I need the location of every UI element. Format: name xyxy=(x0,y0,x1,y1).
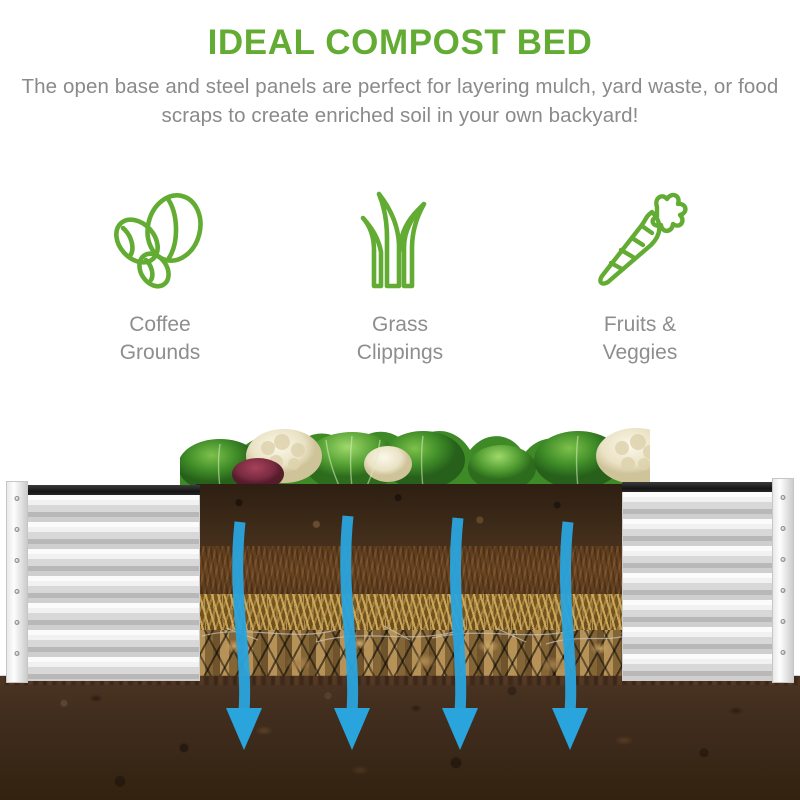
rivet xyxy=(781,557,786,562)
feature-label: Coffee Grounds xyxy=(120,311,201,367)
page-title: IDEAL COMPOST BED xyxy=(0,22,800,63)
header: IDEAL COMPOST BED The open base and stee… xyxy=(0,22,800,131)
rivet xyxy=(15,527,20,532)
feature-label: Grass Clippings xyxy=(357,311,443,367)
arrow-head xyxy=(552,708,588,750)
page-subtitle: The open base and steel panels are perfe… xyxy=(0,72,800,130)
feature-list: Coffee Grounds Grass Clippings xyxy=(55,188,745,367)
coffee-beans-icon xyxy=(108,188,212,292)
plant-row xyxy=(180,404,650,490)
water-drainage-arrow xyxy=(238,522,245,712)
feature-grass-clippings: Grass Clippings xyxy=(295,188,505,367)
feature-fruits-veggies: Fruits & Veggies xyxy=(535,188,745,367)
water-drainage-arrow xyxy=(565,522,570,712)
rivet xyxy=(781,526,786,531)
rivet xyxy=(15,496,20,501)
rivet xyxy=(781,588,786,593)
rivet xyxy=(781,619,786,624)
grass-blades-icon xyxy=(354,188,446,292)
rivet xyxy=(15,620,20,625)
arrow-head xyxy=(442,708,478,750)
product-infographic: IDEAL COMPOST BED The open base and stee… xyxy=(0,0,800,800)
rivet xyxy=(15,651,20,656)
corrugated-surface xyxy=(8,495,200,681)
rivet xyxy=(781,495,786,500)
right-steel-panel xyxy=(622,482,792,681)
rivet xyxy=(781,650,786,655)
corner-post xyxy=(6,481,28,683)
left-steel-panel xyxy=(8,485,200,681)
arrow-head xyxy=(334,708,370,750)
water-drainage-arrow xyxy=(455,518,460,712)
carrot-icon xyxy=(588,188,692,292)
raised-bed-scene xyxy=(0,404,800,800)
rivet xyxy=(15,558,20,563)
water-drainage-arrow xyxy=(346,516,353,712)
corrugated-surface xyxy=(622,492,792,681)
corner-post xyxy=(772,478,794,683)
feature-coffee-grounds: Coffee Grounds xyxy=(55,188,265,367)
rivet xyxy=(15,589,20,594)
arrow-head xyxy=(226,708,262,750)
feature-label: Fruits & Veggies xyxy=(603,311,678,367)
water-drainage-arrows xyxy=(196,488,626,800)
